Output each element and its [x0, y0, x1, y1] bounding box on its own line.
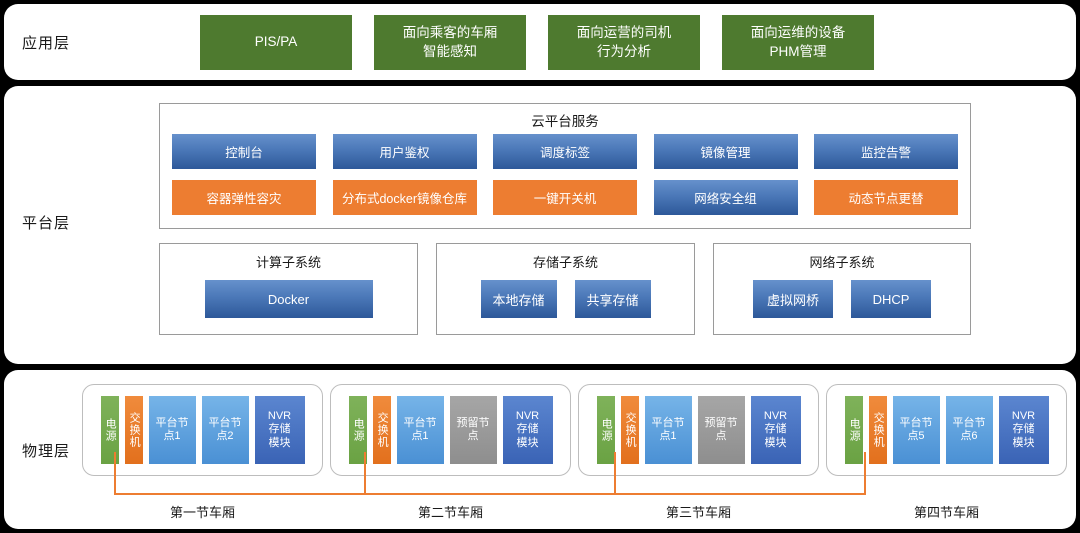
service-network-security-group[interactable]: 网络安全组: [654, 180, 798, 215]
cloud-platform-services-panel: 云平台服务 控制台 用户鉴权 调度标签 镜像管理 监控告警 容器弹性容灾 分布式…: [159, 103, 971, 229]
car4-switch-unit[interactable]: 交换机: [869, 396, 887, 464]
train-cars-row: 电源 交换机 平台节 点1 平台节 点2 NVR 存储 模块 电源 交换机 平台…: [82, 384, 1067, 476]
platform-layer-title: 平台层: [22, 212, 70, 233]
train-car-2-caption: 第二节车厢: [330, 502, 571, 521]
service-user-authentication[interactable]: 用户鉴权: [333, 134, 477, 169]
bus-backbone-line: [114, 493, 866, 495]
bus-drop-car-4: [864, 452, 866, 495]
car2-reserved-node[interactable]: 预留节 点: [450, 396, 497, 464]
physical-layer-title: 物理层: [22, 440, 70, 461]
application-layer-title: 应用层: [22, 32, 70, 53]
physical-layer-panel: 物理层 电源 交换机 平台节 点1 平台节 点2 NVR 存储 模块 电源 交换…: [4, 370, 1076, 529]
bus-drop-car-2: [364, 452, 366, 495]
storage-subsystem-panel: 存储子系统 本地存储 共享存储: [436, 243, 695, 335]
car2-platform-node-1[interactable]: 平台节 点1: [397, 396, 444, 464]
application-box-passenger-cabin-sensing[interactable]: 面向乘客的车厢 智能感知: [374, 15, 526, 70]
service-scheduling-labels[interactable]: 调度标签: [493, 134, 637, 169]
car3-switch-unit[interactable]: 交换机: [621, 396, 639, 464]
car1-nvr-storage-module[interactable]: NVR 存储 模块: [255, 396, 305, 464]
service-one-key-power[interactable]: 一键开关机: [493, 180, 637, 215]
train-car-4: 电源 交换机 平台节 点5 平台节 点6 NVR 存储 模块: [826, 384, 1067, 476]
car2-nvr-storage-module[interactable]: NVR 存储 模块: [503, 396, 553, 464]
service-monitoring-alerts[interactable]: 监控告警: [814, 134, 958, 169]
bus-drop-car-3: [614, 452, 616, 495]
cloud-services-row-1: 控制台 用户鉴权 调度标签 镜像管理 监控告警: [172, 134, 958, 169]
compute-item-docker[interactable]: Docker: [205, 280, 373, 318]
car1-platform-node-2[interactable]: 平台节 点2: [202, 396, 249, 464]
application-box-equipment-phm[interactable]: 面向运维的设备 PHM管理: [722, 15, 874, 70]
storage-item-shared-storage[interactable]: 共享存储: [575, 280, 651, 318]
car4-power-unit[interactable]: 电源: [845, 396, 863, 464]
car1-platform-node-1[interactable]: 平台节 点1: [149, 396, 196, 464]
service-image-management[interactable]: 镜像管理: [654, 134, 798, 169]
bus-drop-car-1: [114, 452, 116, 495]
storage-item-local-storage[interactable]: 本地存储: [481, 280, 557, 318]
car4-platform-node-6[interactable]: 平台节 点6: [946, 396, 993, 464]
car4-platform-node-5[interactable]: 平台节 点5: [893, 396, 940, 464]
train-car-captions: 第一节车厢 第二节车厢 第三节车厢 第四节车厢: [82, 502, 1067, 521]
service-distributed-docker-registry[interactable]: 分布式docker镜像仓库: [333, 180, 477, 215]
network-subsystem-items: 虚拟网桥 DHCP: [714, 280, 970, 318]
train-car-2: 电源 交换机 平台节 点1 预留节 点 NVR 存储 模块: [330, 384, 571, 476]
cloud-services-grid: 控制台 用户鉴权 调度标签 镜像管理 监控告警 容器弹性容灾 分布式docker…: [172, 134, 958, 215]
train-car-4-caption: 第四节车厢: [826, 502, 1067, 521]
compute-subsystem-title: 计算子系统: [160, 252, 417, 271]
platform-layer-panel: 平台层 云平台服务 控制台 用户鉴权 调度标签 镜像管理 监控告警 容器弹性容灾…: [4, 86, 1076, 364]
service-container-elastic-dr[interactable]: 容器弹性容灾: [172, 180, 316, 215]
network-item-dhcp[interactable]: DHCP: [851, 280, 931, 318]
train-car-1: 电源 交换机 平台节 点1 平台节 点2 NVR 存储 模块: [82, 384, 323, 476]
car2-switch-unit[interactable]: 交换机: [373, 396, 391, 464]
storage-subsystem-items: 本地存储 共享存储: [437, 280, 694, 318]
compute-subsystem-panel: 计算子系统 Docker: [159, 243, 418, 335]
car3-reserved-node[interactable]: 预留节 点: [698, 396, 745, 464]
cloud-platform-services-title: 云平台服务: [160, 110, 970, 130]
car3-nvr-storage-module[interactable]: NVR 存储 模块: [751, 396, 801, 464]
subsystem-row: 计算子系统 Docker 存储子系统 本地存储 共享存储 网络子系统 虚拟网桥 …: [159, 243, 971, 335]
network-subsystem-title: 网络子系统: [714, 252, 970, 271]
car1-switch-unit[interactable]: 交换机: [125, 396, 143, 464]
compute-subsystem-items: Docker: [160, 280, 417, 318]
car3-platform-node-1[interactable]: 平台节 点1: [645, 396, 692, 464]
train-car-1-caption: 第一节车厢: [82, 502, 323, 521]
network-item-virtual-bridge[interactable]: 虚拟网桥: [753, 280, 833, 318]
car4-nvr-storage-module[interactable]: NVR 存储 模块: [999, 396, 1049, 464]
train-car-3-caption: 第三节车厢: [578, 502, 819, 521]
service-console[interactable]: 控制台: [172, 134, 316, 169]
storage-subsystem-title: 存储子系统: [437, 252, 694, 271]
application-box-driver-behavior-analysis[interactable]: 面向运营的司机 行为分析: [548, 15, 700, 70]
cloud-services-row-2: 容器弹性容灾 分布式docker镜像仓库 一键开关机 网络安全组 动态节点更替: [172, 180, 958, 215]
application-box-pis-pa[interactable]: PIS/PA: [200, 15, 352, 70]
application-layer-panel: 应用层 PIS/PA 面向乘客的车厢 智能感知 面向运营的司机 行为分析 面向运…: [4, 4, 1076, 80]
car3-power-unit[interactable]: 电源: [597, 396, 615, 464]
network-subsystem-panel: 网络子系统 虚拟网桥 DHCP: [713, 243, 971, 335]
service-dynamic-node-replacement[interactable]: 动态节点更替: [814, 180, 958, 215]
application-box-row: PIS/PA 面向乘客的车厢 智能感知 面向运营的司机 行为分析 面向运维的设备…: [200, 15, 874, 70]
